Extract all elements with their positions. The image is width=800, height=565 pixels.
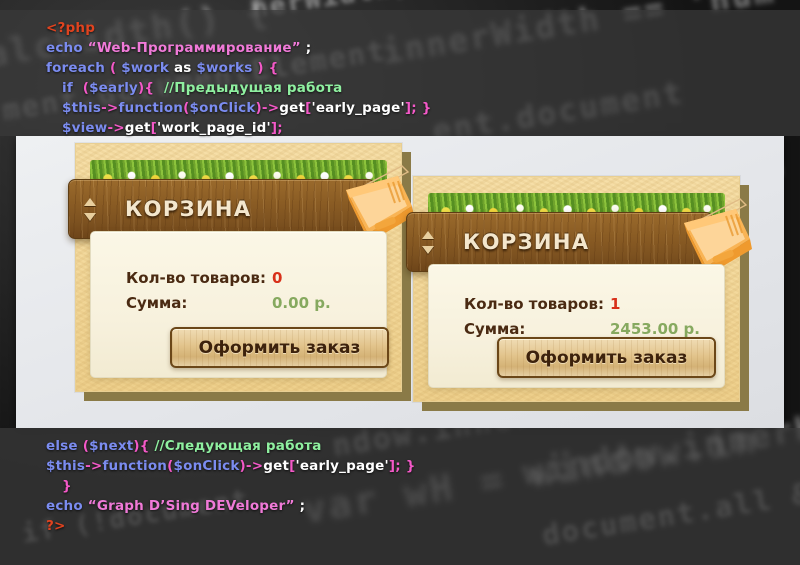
- code-token: //Предыдущая работа: [164, 80, 342, 96]
- code-line: ?>: [0, 516, 800, 536]
- code-token: ];: [389, 458, 401, 474]
- code-token: 'early_page': [311, 100, 404, 116]
- cart-total-row-1: Сумма: 0.00 р.: [126, 294, 331, 312]
- chevron-up-icon[interactable]: [422, 231, 434, 239]
- cart-title-label-1: КОРЗИНА: [125, 197, 252, 221]
- cart-total-row-2: Сумма: 2453.00 р.: [464, 320, 700, 338]
- cart-count-value-1: 0: [272, 269, 282, 287]
- code-line: }: [0, 476, 800, 496]
- code-token: {: [144, 80, 154, 96]
- php-code-overlay-top: <?phpecho “Web-Программирование” ;foreac…: [0, 10, 800, 136]
- chevron-down-icon[interactable]: [84, 213, 96, 221]
- code-token: get: [263, 458, 289, 474]
- cart-total-value-1: 0.00 р.: [272, 294, 331, 312]
- cart-collapse-arrows-1[interactable]: [77, 198, 103, 221]
- code-token: $onClick: [174, 458, 240, 474]
- code-token: }: [417, 100, 432, 116]
- code-token: $view: [62, 120, 107, 136]
- code-token: if: [62, 80, 78, 96]
- chevron-down-icon[interactable]: [422, 246, 434, 254]
- code-token: “Graph D’Sing DEVeloper”: [88, 498, 295, 514]
- checkout-button-2[interactable]: Оформить заказ: [497, 337, 716, 378]
- code-token: ->: [107, 120, 124, 136]
- code-line: $this->function($onClick)->get['early_pa…: [0, 456, 800, 476]
- code-line: foreach ( $work as $works ) {: [0, 58, 800, 78]
- code-token: $this: [62, 100, 101, 116]
- php-code-overlay-bottom: else ($next){ //Следующая работа$this->f…: [0, 428, 800, 565]
- code-token: $onClick: [190, 100, 256, 116]
- code-token: ->: [101, 100, 118, 116]
- code-token: foreach: [46, 60, 110, 76]
- code-token: echo: [46, 498, 88, 514]
- code-token: ?>: [46, 518, 66, 534]
- cart-total-label-1: Сумма:: [126, 294, 272, 312]
- code-line: echo “Web-Программирование” ;: [0, 38, 800, 58]
- code-token: $works: [196, 60, 252, 76]
- cart-title-label-2: КОРЗИНА: [463, 230, 590, 254]
- cart-collapse-arrows-2[interactable]: [415, 231, 441, 254]
- cart-title-bar-2[interactable]: КОРЗИНА: [406, 212, 713, 272]
- cart-count-row-1: Кол-во товаров: 0: [126, 269, 331, 287]
- code-token: $work: [121, 60, 169, 76]
- cart-count-row-2: Кол-во товаров: 1: [464, 295, 700, 313]
- code-token: 'early_page': [295, 458, 388, 474]
- code-token: {: [264, 60, 279, 76]
- cart-count-label-1: Кол-во товаров:: [126, 269, 272, 287]
- cart-summary-rows-1: Кол-во товаров: 0 Сумма: 0.00 р.: [126, 269, 331, 319]
- code-token: ;: [301, 40, 312, 56]
- code-token: get: [279, 100, 305, 116]
- chevron-up-icon[interactable]: [84, 198, 96, 206]
- cart-total-label-2: Сумма:: [464, 320, 610, 338]
- code-token: as: [169, 60, 196, 76]
- code-line: if ($early){ //Предыдущая работа: [0, 78, 800, 98]
- code-token: function: [118, 100, 183, 116]
- code-token: }: [62, 478, 72, 494]
- code-line: else ($next){ //Следующая работа: [0, 436, 800, 456]
- code-token: [154, 80, 164, 96]
- code-line: <?php: [0, 18, 800, 38]
- code-line: echo “Graph D’Sing DEVeloper” ;: [0, 496, 800, 516]
- cart-count-label-2: Кол-во товаров:: [464, 295, 610, 313]
- code-token: else: [46, 438, 83, 454]
- cart-title-bar-1[interactable]: КОРЗИНА: [68, 179, 375, 239]
- code-token: <?php: [46, 20, 95, 36]
- code-token: $this: [46, 458, 85, 474]
- code-token: ];: [405, 100, 417, 116]
- code-token: $next: [89, 438, 133, 454]
- cart-count-value-2: 1: [610, 295, 620, 313]
- code-token: ->: [85, 458, 102, 474]
- code-token: get: [125, 120, 151, 136]
- code-token: $early: [89, 80, 138, 96]
- code-token: ];: [271, 120, 283, 136]
- code-token: }: [401, 458, 416, 474]
- code-token: 'work_page_id': [157, 120, 271, 136]
- code-token: ): [252, 60, 263, 76]
- code-token: (: [78, 80, 89, 96]
- checkout-button-1[interactable]: Оформить заказ: [170, 327, 389, 368]
- code-token: ->: [246, 458, 263, 474]
- code-token: ;: [295, 498, 306, 514]
- code-line: $this->function($onClick)->get['early_pa…: [0, 98, 800, 118]
- cart-total-value-2: 2453.00 р.: [610, 320, 700, 338]
- code-token: “Web-Программирование”: [88, 40, 301, 56]
- code-token: ->: [262, 100, 279, 116]
- code-token: function: [102, 458, 167, 474]
- code-line: $view->get['work_page_id'];: [0, 118, 800, 138]
- code-token: echo: [46, 40, 88, 56]
- code-token: {: [140, 438, 150, 454]
- code-token: //Следующая работа: [154, 438, 321, 454]
